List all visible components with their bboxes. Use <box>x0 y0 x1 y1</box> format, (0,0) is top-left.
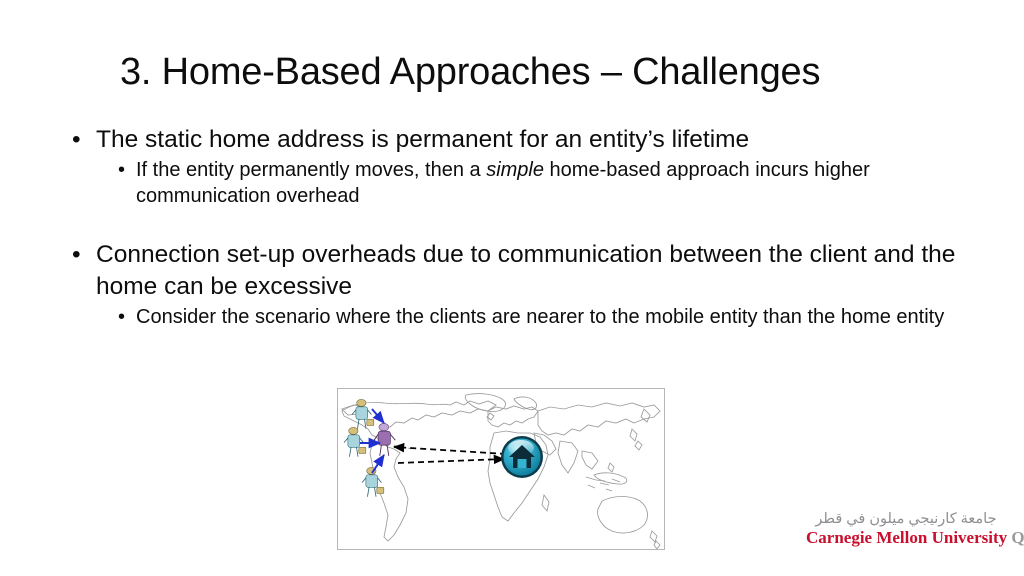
client-to-home-arrow <box>398 459 504 463</box>
bullet-marker-icon: • <box>72 124 81 155</box>
client-figure <box>344 427 366 456</box>
logo-arabic-text: جامعة كارنيجي ميلون في قطر <box>806 512 1006 527</box>
home-link-arrows <box>394 447 506 463</box>
bullet-level1: • Connection set-up overheads due to com… <box>66 239 996 302</box>
world-map-svg <box>338 389 664 549</box>
bullet-text: The static home address is permanent for… <box>96 126 749 153</box>
bullet-level2: •If the entity permanently moves, then a… <box>66 157 996 209</box>
client-arrow-bottom <box>372 455 384 473</box>
client-figures-group <box>344 399 395 496</box>
bullet-level1: • The static home address is permanent f… <box>66 124 996 155</box>
bullet-level2: • Consider the scenario where the client… <box>66 304 996 330</box>
bullet-text: Consider the scenario where the clients … <box>136 306 944 328</box>
logo-name-primary: Carnegie Mellon University <box>806 528 1007 547</box>
cmu-qatar-logo: جامعة كارنيجي ميلون في قطر Carnegie Mell… <box>806 512 1006 546</box>
bullet-marker-icon: • <box>118 304 125 330</box>
page-title: 3. Home-Based Approaches – Challenges <box>120 52 920 94</box>
mobile-entity-figure <box>374 423 395 455</box>
coastlines <box>342 394 660 549</box>
bullet-marker-icon: • <box>118 157 125 183</box>
slide-canvas: { "slide": { "title": "3. Home-Based App… <box>0 0 1024 576</box>
logo-wordmark: Carnegie Mellon University Qatar <box>806 529 1006 546</box>
bullet-text-italic: simple <box>486 159 544 181</box>
home-icon <box>501 436 543 478</box>
home-to-client-arrow <box>394 447 506 454</box>
world-map-figure <box>337 388 665 550</box>
logo-name-secondary: Qatar <box>1007 528 1024 547</box>
bullet-text-before-italic: If the entity permanently moves, then a <box>136 159 486 181</box>
slide-body: • The static home address is permanent f… <box>66 124 996 330</box>
bullet-text: Connection set-up overheads due to commu… <box>96 241 955 299</box>
bullet-marker-icon: • <box>72 239 81 270</box>
bullet-group-spacer <box>66 209 996 239</box>
